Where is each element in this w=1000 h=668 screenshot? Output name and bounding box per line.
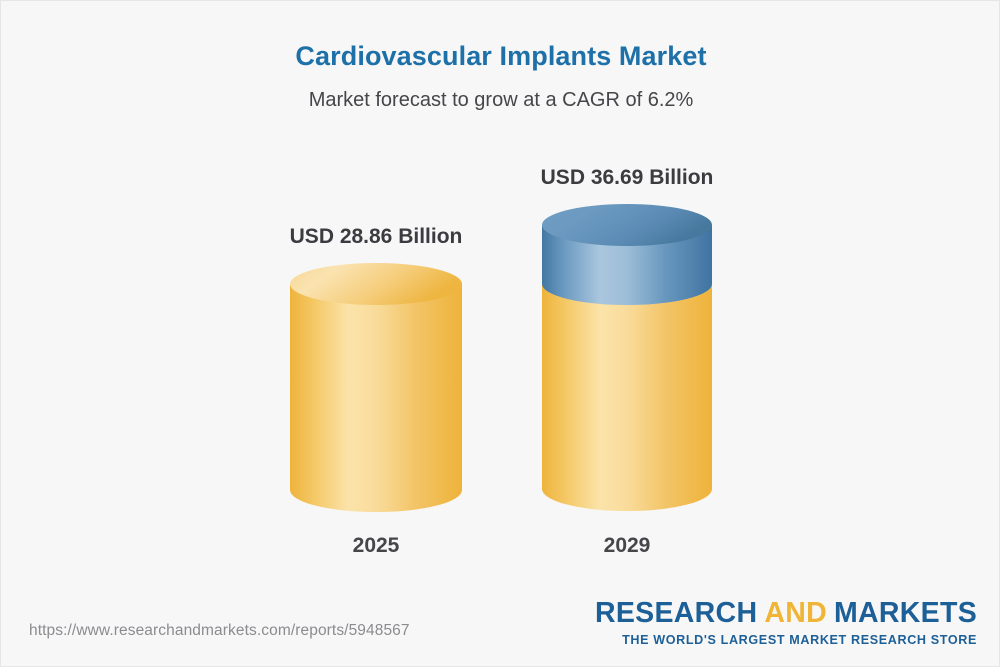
value-label-2029: USD 36.69 Billion (487, 166, 767, 190)
chart-canvas: Cardiovascular Implants Market Market fo… (0, 0, 1000, 667)
plot-area: USD 28.86 Billion (1, 1, 1000, 668)
brand-and-text: AND (764, 597, 827, 629)
brand-tagline: THE WORLD'S LARGEST MARKET RESEARCH STOR… (595, 634, 977, 647)
cylinder-2029 (541, 204, 713, 514)
brand-markets-text: MARKETS (834, 597, 977, 629)
category-label-2025: 2025 (236, 534, 516, 558)
category-label-2029: 2029 (487, 534, 767, 558)
brand-wordmark: RESEARCHANDMARKETS (595, 599, 977, 628)
brand-logo: RESEARCHANDMARKETS THE WORLD'S LARGEST M… (595, 599, 977, 646)
cylinder-2025 (289, 263, 463, 515)
value-label-2025: USD 28.86 Billion (236, 225, 516, 249)
brand-research-text: RESEARCH (595, 597, 757, 629)
source-url[interactable]: https://www.researchandmarkets.com/repor… (29, 622, 410, 640)
